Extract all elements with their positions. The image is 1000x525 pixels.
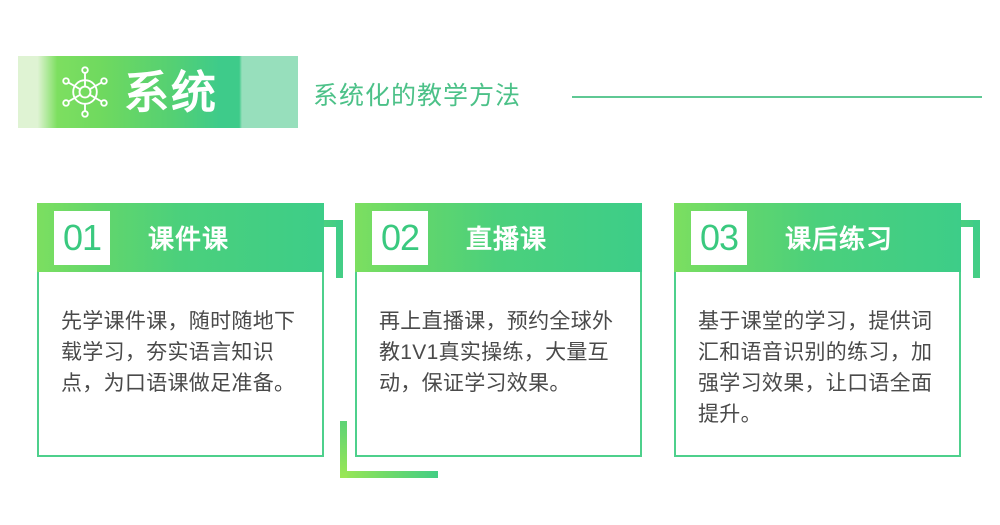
section-subtitle: 系统化的教学方法 xyxy=(313,76,521,112)
bracket-vertical-bar xyxy=(973,220,980,278)
step-card-description: 基于课堂的学习，提供词汇和语音识别的练习，加强学习效果，让口语全面提升。 xyxy=(698,306,939,430)
step-card-description: 再上直播课，预约全球外教1V1真实操练，大量互动，保证学习效果。 xyxy=(379,306,620,399)
step-card-title: 课后练习 xyxy=(785,219,893,256)
step-number-badge: 02 xyxy=(372,211,428,265)
step-card-title: 课件课 xyxy=(148,219,229,256)
section-badge: 系统 xyxy=(18,56,298,128)
header-divider-line xyxy=(572,96,982,98)
bracket-vertical-bar xyxy=(336,220,343,278)
cards-section: 01 课件课 先学课件课，随时随地下载学习，夯实语言知识点，为口语课做足准备。 … xyxy=(0,165,1000,525)
step-card-description: 先学课件课，随时随地下载学习，夯实语言知识点，为口语课做足准备。 xyxy=(61,306,302,399)
step-card-header: 03 课后练习 xyxy=(674,203,961,272)
header-section: 系统 系统化的教学方法 xyxy=(0,0,1000,165)
step-card-body: 先学课件课，随时随地下载学习，夯实语言知识点，为口语课做足准备。 xyxy=(37,272,324,457)
step-card-body: 再上直播课，预约全球外教1V1真实操练，大量互动，保证学习效果。 xyxy=(355,272,642,457)
step-number-badge: 01 xyxy=(54,211,110,265)
step-card[interactable]: 03 课后练习 基于课堂的学习，提供词汇和语音识别的练习，加强学习效果，让口语全… xyxy=(674,203,961,457)
step-card-body: 基于课堂的学习，提供词汇和语音识别的练习，加强学习效果，让口语全面提升。 xyxy=(674,272,961,457)
step-card[interactable]: 02 直播课 再上直播课，预约全球外教1V1真实操练，大量互动，保证学习效果。 xyxy=(355,203,642,457)
bracket-vertical-bar xyxy=(340,421,347,478)
step-card-title: 直播课 xyxy=(466,219,547,256)
step-card-header: 01 课件课 xyxy=(37,203,324,272)
step-card[interactable]: 01 课件课 先学课件课，随时随地下载学习，夯实语言知识点，为口语课做足准备。 xyxy=(37,203,324,457)
bracket-horizontal-bar xyxy=(340,471,438,478)
step-number-badge: 03 xyxy=(691,211,747,265)
step-card-header: 02 直播课 xyxy=(355,203,642,272)
network-hub-icon xyxy=(58,65,112,119)
section-badge-label: 系统 xyxy=(124,70,218,115)
